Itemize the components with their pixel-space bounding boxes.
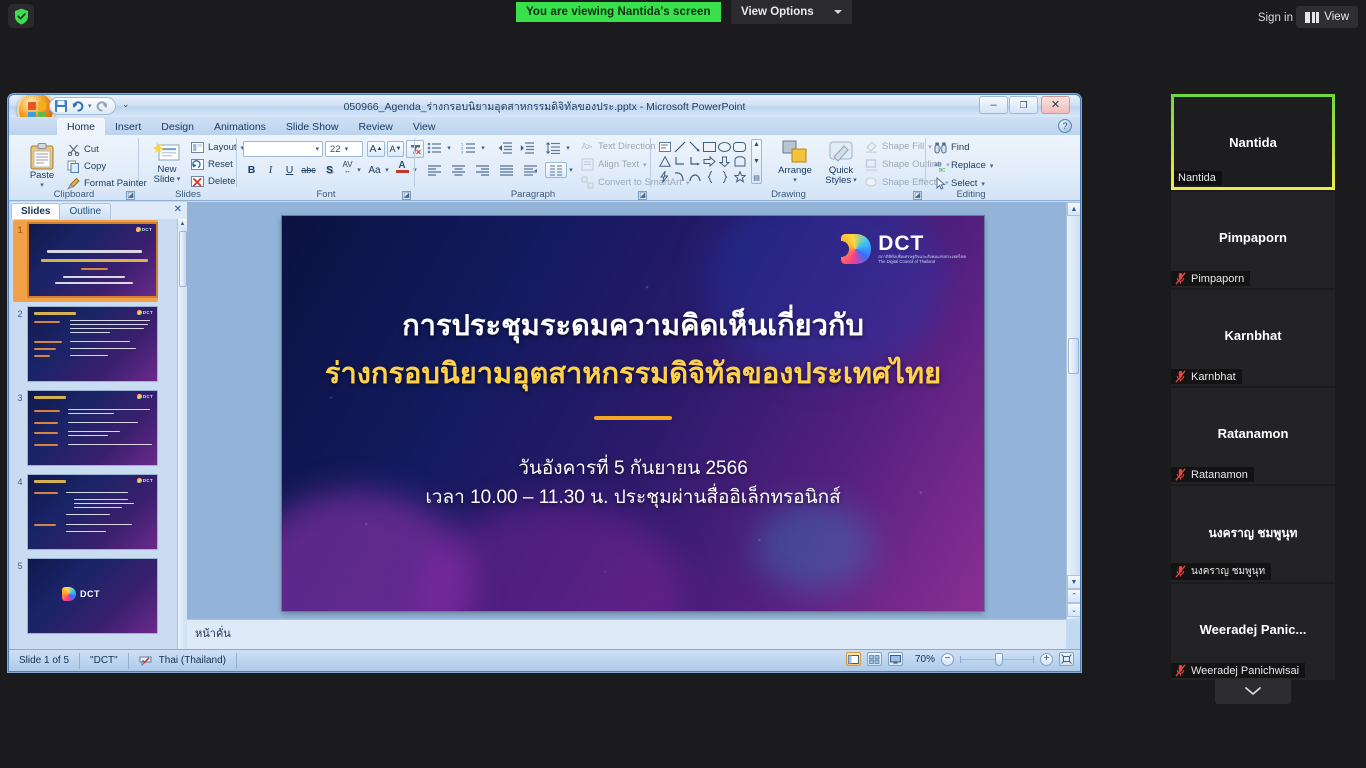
language-indicator[interactable]: Thai (Thailand) <box>129 653 237 669</box>
paste-button[interactable]: Paste ▾ <box>21 143 63 191</box>
participant-display-name: นงคราญ ชมพูนุท <box>1171 524 1335 543</box>
slide-thumbnail-list[interactable]: 1 DCT 2 DCT <box>11 219 177 649</box>
select-label: Select <box>951 178 977 189</box>
slide-thumbnail-image: DCT <box>27 474 158 550</box>
slide-number: 1 <box>13 222 27 235</box>
ribbon-group-paragraph: ▾ 123 ▾ <box>415 135 651 201</box>
quick-styles-dropdown-icon[interactable]: ▾ <box>853 176 857 186</box>
help-icon[interactable]: ? <box>1058 119 1072 133</box>
slide-thumbnail-2[interactable]: 2 DCT <box>13 306 175 390</box>
find-button[interactable]: Find <box>934 141 969 154</box>
paste-label: Paste <box>30 171 54 181</box>
view-options-button[interactable]: View Options <box>731 0 852 24</box>
view-layout-button[interactable]: View <box>1296 6 1358 28</box>
ribbon-group-editing: Find ab ac Replace ▾ Select ▾ Editing <box>926 135 1016 201</box>
svg-text:A: A <box>584 144 593 150</box>
participant-display-name: Karnbhat <box>1171 328 1335 343</box>
layout-icon <box>191 141 204 154</box>
paragraph-dialog-launcher[interactable]: ◪ <box>638 191 647 200</box>
character-spacing-button[interactable]: AV↔ <box>339 160 356 176</box>
participant-tile-karnbhat[interactable]: Karnbhat Karnbhat <box>1171 290 1335 386</box>
quick-styles-button[interactable]: Quick Styles ▾ <box>821 140 861 186</box>
align-text-icon <box>581 158 594 171</box>
shape-elbow-arrow-icon[interactable] <box>687 154 702 169</box>
shape-star-icon[interactable] <box>732 169 747 184</box>
shape-fill-button[interactable]: Shape Fill ▾ <box>865 140 932 153</box>
participant-display-name: Weeradej Panic... <box>1171 622 1335 637</box>
svg-text:3: 3 <box>461 150 464 154</box>
participant-label: Nantida <box>1178 172 1216 184</box>
cut-button[interactable]: Cut <box>67 143 99 156</box>
shape-oval-icon[interactable] <box>717 139 732 154</box>
arrange-label: Arrange <box>778 166 812 176</box>
shape-scroll-up-icon[interactable]: ▲ <box>753 141 760 148</box>
participant-display-name: Ratanamon <box>1171 426 1335 441</box>
ribbon-tab-strip: Home Insert Design Animations Slide Show… <box>9 117 1080 135</box>
slide-editing-area[interactable]: DCT สภาดิจิทัลเพื่อเศรษฐกิจและสังคมแห่งป… <box>187 202 1066 619</box>
slide-thumbnail-image: DCT <box>27 222 158 298</box>
microphone-muted-icon <box>1175 468 1186 481</box>
align-left-button[interactable] <box>423 162 445 178</box>
shape-flowchart-icon[interactable] <box>732 154 747 169</box>
shape-effects-icon <box>865 176 878 189</box>
zoom-tick <box>1033 656 1034 663</box>
thumbnail-scrollbar[interactable]: ▲ <box>177 219 187 649</box>
bullets-dropdown-icon[interactable]: ▾ <box>445 140 453 156</box>
participant-label: Ratanamon <box>1191 469 1248 481</box>
shape-lightning-icon[interactable] <box>657 169 672 184</box>
tab-review[interactable]: Review <box>348 118 402 135</box>
slide-number: 4 <box>13 474 27 487</box>
align-right-button[interactable] <box>471 162 493 178</box>
microphone-muted-icon <box>1175 664 1186 677</box>
close-button[interactable]: ✕ <box>1041 96 1070 114</box>
sign-in-button[interactable]: Sign in <box>1252 8 1299 28</box>
shape-line-icon[interactable] <box>672 139 687 154</box>
participant-tile-nongkran[interactable]: นงคราญ ชมพูนุท นงคราญ ชมพูนุท <box>1171 486 1335 582</box>
quick-styles-icon <box>828 140 854 166</box>
tab-outline[interactable]: Outline <box>59 203 111 219</box>
slide-thumbnail-5[interactable]: 5 DCT <box>13 558 175 642</box>
quick-styles-label-2: Styles <box>825 176 851 186</box>
delete-slide-button[interactable]: Delete <box>191 175 235 188</box>
binoculars-icon <box>934 141 947 154</box>
editing-group-label: Editing <box>926 189 1016 200</box>
replace-icon: ab ac <box>934 159 947 172</box>
participant-label: Karnbhat <box>1191 371 1236 383</box>
shape-rounded-rectangle-icon[interactable] <box>732 139 747 154</box>
new-slide-button[interactable]: New Slide ▾ <box>147 141 187 185</box>
shape-arc-icon[interactable] <box>687 169 702 184</box>
next-slide-button[interactable]: ⌄ <box>1067 603 1081 617</box>
dct-wordmark: DCT สภาดิจิทัลเพื่อเศรษฐกิจและสังคมแห่งป… <box>878 234 966 264</box>
maximize-icon: ❐ <box>1019 101 1027 110</box>
slide-number: 3 <box>13 390 27 403</box>
maximize-button[interactable]: ❐ <box>1009 96 1038 114</box>
align-center-icon <box>451 165 466 176</box>
font-dialog-launcher[interactable]: ◪ <box>402 191 411 200</box>
view-options-label: View Options <box>741 6 814 18</box>
shape-fill-icon <box>865 140 878 153</box>
shape-right-brace-icon[interactable] <box>717 169 732 184</box>
participant-label: Pimpaporn <box>1191 273 1244 285</box>
font-name-input[interactable]: ▾ <box>243 141 323 157</box>
copy-button[interactable]: Copy <box>67 160 106 173</box>
normal-view-button[interactable] <box>846 652 861 666</box>
close-icon: ✕ <box>1051 100 1060 111</box>
text-shadow-button[interactable]: S <box>321 162 338 178</box>
drawing-group-label: Drawing <box>651 189 926 200</box>
shape-right-arrow-icon[interactable] <box>702 154 717 169</box>
theme-name[interactable]: "DCT" <box>80 653 129 669</box>
shield-check-icon[interactable] <box>8 4 34 28</box>
previous-slide-button[interactable]: ⌃ <box>1067 589 1081 603</box>
ribbon-group-drawing: ▲ ▼ ▤ Arrange ▾ Quick Styles <box>651 135 926 201</box>
slide-show-button[interactable] <box>888 652 903 666</box>
font-group-label: Font <box>237 189 415 200</box>
align-left-icon <box>427 165 442 176</box>
participant-filmstrip[interactable]: Nantida Nantida Pimpaporn Pimpaporn Karn… <box>1140 94 1366 700</box>
drawing-dialog-launcher[interactable]: ◪ <box>913 191 922 200</box>
new-slide-dropdown-icon[interactable]: ▾ <box>177 175 181 185</box>
scroll-up-button[interactable]: ▲ <box>1067 202 1081 216</box>
slide-thumbnail-image: DCT <box>27 306 158 382</box>
dct-logo-text: DCT <box>878 234 966 254</box>
copy-label: Copy <box>84 161 106 172</box>
thumbnail-scroll-up-button[interactable]: ▲ <box>178 219 187 229</box>
participant-tile-weeradej[interactable]: Weeradej Panic... Weeradej Panichwisai <box>1171 584 1335 680</box>
bullet-list-icon <box>427 142 442 154</box>
dct-mark-icon <box>841 234 871 264</box>
character-spacing-dropdown-icon[interactable]: ▾ <box>355 162 363 178</box>
slide-divider-rule <box>594 416 672 420</box>
current-slide[interactable]: DCT สภาดิจิทัลเพื่อเศรษฐกิจและสังคมแห่งป… <box>282 216 984 611</box>
change-case-dropdown-icon[interactable]: ▾ <box>383 162 391 178</box>
participant-display-name: Pimpaporn <box>1171 230 1335 245</box>
notes-pane[interactable]: หน้าคั่น <box>187 619 1066 649</box>
slide-thumbnail-3[interactable]: 3 DCT <box>13 390 175 474</box>
columns-button[interactable] <box>519 162 541 178</box>
shape-gallery[interactable] <box>657 139 747 184</box>
numbering-button[interactable]: 123 <box>457 140 479 156</box>
text-direction-icon: A A <box>581 140 594 153</box>
zoom-in-button[interactable]: + <box>1040 653 1053 666</box>
shape-gallery-scrollbar[interactable]: ▲ ▼ ▤ <box>751 139 762 184</box>
shape-fill-label: Shape Fill <box>882 141 924 152</box>
slides-outline-pane: Slides Outline ✕ 1 DCT 2 <box>11 202 187 649</box>
new-slide-label-2: Slide <box>154 175 175 185</box>
arrange-dropdown-icon[interactable]: ▾ <box>793 176 797 186</box>
participant-name-badge: Pimpaporn <box>1171 271 1250 286</box>
shape-down-arrow-icon[interactable] <box>717 154 732 169</box>
tab-animations[interactable]: Animations <box>204 118 276 135</box>
participant-label: Weeradej Panichwisai <box>1191 665 1299 677</box>
screen-share-banner: You are viewing Nantida's screen <box>516 2 721 22</box>
bold-button[interactable]: B <box>243 162 260 178</box>
shrink-font-button[interactable]: A▼ <box>387 141 404 157</box>
font-color-button[interactable]: A <box>393 159 411 175</box>
text-direction-label: Text Direction <box>598 141 656 152</box>
dct-logo-icon: DCT <box>137 394 153 399</box>
participant-name-badge: Ratanamon <box>1171 467 1254 482</box>
align-center-button[interactable] <box>447 162 469 178</box>
proofing-icon <box>139 654 154 667</box>
normal-view-icon <box>848 655 859 664</box>
shape-gallery-more-icon[interactable]: ▤ <box>753 174 760 182</box>
slide-thumbnail-image: DCT <box>27 390 158 466</box>
align-text-button[interactable]: Align Text ▾ <box>581 158 647 171</box>
shape-outline-icon <box>865 158 878 171</box>
bullets-button[interactable] <box>423 140 445 156</box>
numbered-list-icon: 123 <box>461 142 476 154</box>
reset-button[interactable]: Reset <box>191 158 233 171</box>
line-spacing-dropdown-icon[interactable]: ▾ <box>564 140 572 156</box>
slide-vertical-scrollbar[interactable]: ▲ ▼ ⌃ ⌄ <box>1066 202 1080 619</box>
powerpoint-status-bar: Slide 1 of 5 "DCT" Thai (Thailand) 70% − <box>9 649 1080 671</box>
increase-indent-icon <box>520 142 535 154</box>
minimize-icon: – <box>990 100 996 111</box>
font-size-value: 22 <box>330 144 341 155</box>
close-pane-icon[interactable]: ✕ <box>174 204 182 215</box>
filmstrip-scroll-down-button[interactable] <box>1215 678 1291 704</box>
delete-label: Delete <box>208 176 235 187</box>
fit-to-window-icon <box>1061 654 1072 664</box>
participant-name-badge: Nantida <box>1174 171 1222 185</box>
zoom-out-button[interactable]: − <box>941 653 954 666</box>
slide-subtitle-line-2[interactable]: เวลา 10.00 – 11.30 น. ประชุมผ่านสื่ออิเล… <box>282 482 984 512</box>
language-label: Thai (Thailand) <box>159 655 226 666</box>
shape-triangle-icon[interactable] <box>657 154 672 169</box>
slide-thumbnail-1[interactable]: 1 DCT <box>13 222 175 306</box>
slide-show-icon <box>890 655 901 664</box>
text-columns-dropdown-icon[interactable]: ▾ <box>567 162 575 178</box>
shape-curve-icon[interactable] <box>672 169 687 184</box>
svg-text:ac: ac <box>939 167 947 173</box>
minimize-button[interactable]: – <box>979 96 1008 114</box>
text-columns-icon <box>549 165 563 176</box>
dct-logo-subtext-2: The Digital Council of Thailand <box>878 259 966 264</box>
grow-font-button[interactable]: A▲ <box>367 141 385 157</box>
ribbon-group-clipboard: Paste ▾ Cut Copy <box>9 135 139 201</box>
scissors-icon <box>67 143 80 156</box>
cut-label: Cut <box>84 144 99 155</box>
slide-number: 2 <box>13 306 27 319</box>
line-spacing-button[interactable] <box>542 140 564 156</box>
participant-name-badge: Karnbhat <box>1171 369 1242 384</box>
dct-logo-icon: DCT <box>62 587 100 601</box>
replace-dropdown-icon[interactable]: ▾ <box>990 162 994 170</box>
shield-check-icon-svg <box>14 8 29 25</box>
scroll-down-button[interactable]: ▼ <box>1067 575 1081 589</box>
replace-label: Replace <box>951 160 986 171</box>
shape-left-brace-icon[interactable] <box>702 169 717 184</box>
tab-design[interactable]: Design <box>151 118 204 135</box>
paragraph-group-label: Paragraph <box>415 189 651 200</box>
justify-button[interactable] <box>495 162 517 178</box>
slide-thumbnail-4[interactable]: 4 DCT <box>13 474 175 558</box>
ribbon: Paste ▾ Cut Copy <box>9 135 1080 201</box>
italic-button: I <box>262 162 279 178</box>
participant-tile-pimpaporn[interactable]: Pimpaporn Pimpaporn <box>1171 192 1335 288</box>
slide-title-line-1[interactable]: การประชุมระดมความคิดเห็นเกี่ยวกับ <box>282 302 984 348</box>
decrease-indent-button[interactable] <box>495 140 515 156</box>
microphone-muted-icon <box>1175 370 1186 383</box>
align-text-dropdown-icon[interactable]: ▾ <box>643 161 647 169</box>
decrease-indent-icon <box>498 142 513 154</box>
change-case-button[interactable]: Aa <box>365 162 384 178</box>
participant-tile-ratanamon[interactable]: Ratanamon Ratanamon <box>1171 388 1335 484</box>
chevron-down-icon <box>834 10 842 14</box>
slide-counter: Slide 1 of 5 <box>9 653 80 669</box>
view-button-label: View <box>1324 11 1349 23</box>
align-text-label: Align Text <box>598 159 639 170</box>
participant-name-badge: นงคราญ ชมพูนุท <box>1171 563 1271 580</box>
strikethrough-button[interactable]: abc <box>300 162 317 178</box>
clipboard-group-label: Clipboard <box>9 189 139 200</box>
line-spacing-icon <box>546 142 561 154</box>
underline-button[interactable]: U <box>281 162 298 178</box>
shape-scroll-down-icon[interactable]: ▼ <box>753 158 760 165</box>
slides-pane-tabs: Slides Outline ✕ <box>11 202 187 219</box>
powerpoint-title-bar: ▾ ⌄ 050966_Agenda_ร่างกรอบนิยามอุตสาหกรร… <box>9 95 1080 117</box>
powerpoint-window: ▾ ⌄ 050966_Agenda_ร่างกรอบนิยามอุตสาหกรร… <box>8 94 1081 672</box>
layout-label: Layout <box>208 142 237 153</box>
paste-icon <box>29 143 55 171</box>
arrange-button[interactable]: Arrange ▾ <box>773 140 817 186</box>
shape-textbox-icon[interactable] <box>657 139 672 154</box>
scrollbar-thumb[interactable] <box>1068 338 1079 374</box>
tab-view[interactable]: View <box>403 118 446 135</box>
tab-insert[interactable]: Insert <box>105 118 151 135</box>
thumbnail-scrollbar-thumb[interactable] <box>179 231 187 287</box>
replace-button[interactable]: ab ac Replace ▾ <box>934 159 993 172</box>
align-right-icon <box>475 165 490 176</box>
slides-group-label: Slides <box>139 189 237 200</box>
fit-to-window-button[interactable] <box>1059 652 1074 666</box>
zoom-percentage[interactable]: 70% <box>909 654 935 665</box>
zoom-slider[interactable] <box>960 653 1034 666</box>
shape-arrow-icon[interactable] <box>687 139 702 154</box>
text-columns-button[interactable] <box>545 162 567 178</box>
tab-home[interactable]: Home <box>57 118 105 135</box>
justify-icon <box>499 165 514 176</box>
dct-logo-icon: DCT <box>137 478 153 483</box>
slide-glow-cyan <box>754 501 874 591</box>
ribbon-group-slides: New Slide ▾ Layout ▾ <box>139 135 237 201</box>
zoom-tick <box>960 656 961 663</box>
slide-sorter-icon <box>869 655 880 664</box>
copy-icon <box>67 160 80 173</box>
font-size-dropdown-icon[interactable]: ▾ <box>345 145 349 153</box>
microphone-muted-icon <box>1175 565 1186 578</box>
dct-logo-icon: DCT <box>136 227 152 232</box>
zoom-slider-handle[interactable] <box>995 653 1003 666</box>
participant-label: นงคราญ ชมพูนุท <box>1191 564 1265 579</box>
delete-icon <box>191 175 204 188</box>
slide-thumbnail-image: DCT <box>27 558 158 634</box>
shape-elbow-connector-icon[interactable] <box>672 154 687 169</box>
slide-subtitle-line-1[interactable]: วันอังคารที่ 5 กันยายน 2566 <box>282 453 984 483</box>
microphone-muted-icon <box>1175 272 1186 285</box>
chevron-down-icon <box>1243 685 1263 697</box>
font-name-dropdown-icon[interactable]: ▾ <box>315 145 319 153</box>
slide-title-line-2[interactable]: ร่างกรอบนิยามอุตสาหกรรมดิจิทัลของประเทศไ… <box>282 350 984 396</box>
zoom-top-bar: You are viewing Nantida's screen View Op… <box>0 0 1366 32</box>
view-layout-icon <box>1305 12 1319 23</box>
participant-tile-nantida[interactable]: Nantida Nantida <box>1171 94 1335 190</box>
ribbon-group-font: ▾ 22 ▾ A▲ A▼ B I U abc S AV↔ ▾ Aa ▾ <box>237 135 415 201</box>
increase-indent-button[interactable] <box>517 140 537 156</box>
dct-logo-icon: DCT <box>137 310 153 315</box>
arrange-icon <box>781 140 809 166</box>
slide-dct-logo: DCT สภาดิจิทัลเพื่อเศรษฐกิจและสังคมแห่งป… <box>841 234 966 264</box>
select-dropdown-icon[interactable]: ▾ <box>981 180 985 188</box>
slide-sorter-button[interactable] <box>867 652 882 666</box>
reset-label: Reset <box>208 159 233 170</box>
slide-number: 5 <box>13 558 27 571</box>
clipboard-dialog-launcher[interactable]: ◪ <box>126 191 135 200</box>
smartart-icon <box>581 176 594 189</box>
columns-icon <box>523 165 538 176</box>
numbering-dropdown-icon[interactable]: ▾ <box>479 140 487 156</box>
find-label: Find <box>951 142 969 153</box>
status-bar-right-controls: 70% − + <box>846 652 1074 666</box>
shape-rectangle-icon[interactable] <box>702 139 717 154</box>
window-title: 050966_Agenda_ร่างกรอบนิยามอุตสาหกรรมดิจ… <box>9 98 1080 115</box>
participant-name-badge: Weeradej Panichwisai <box>1171 663 1305 678</box>
reset-icon <box>191 158 204 171</box>
participant-display-name: Nantida <box>1174 135 1332 150</box>
tab-slides[interactable]: Slides <box>11 203 60 219</box>
font-size-input[interactable]: 22 ▾ <box>325 141 363 157</box>
new-slide-icon <box>153 141 181 165</box>
tab-slide-show[interactable]: Slide Show <box>276 118 349 135</box>
